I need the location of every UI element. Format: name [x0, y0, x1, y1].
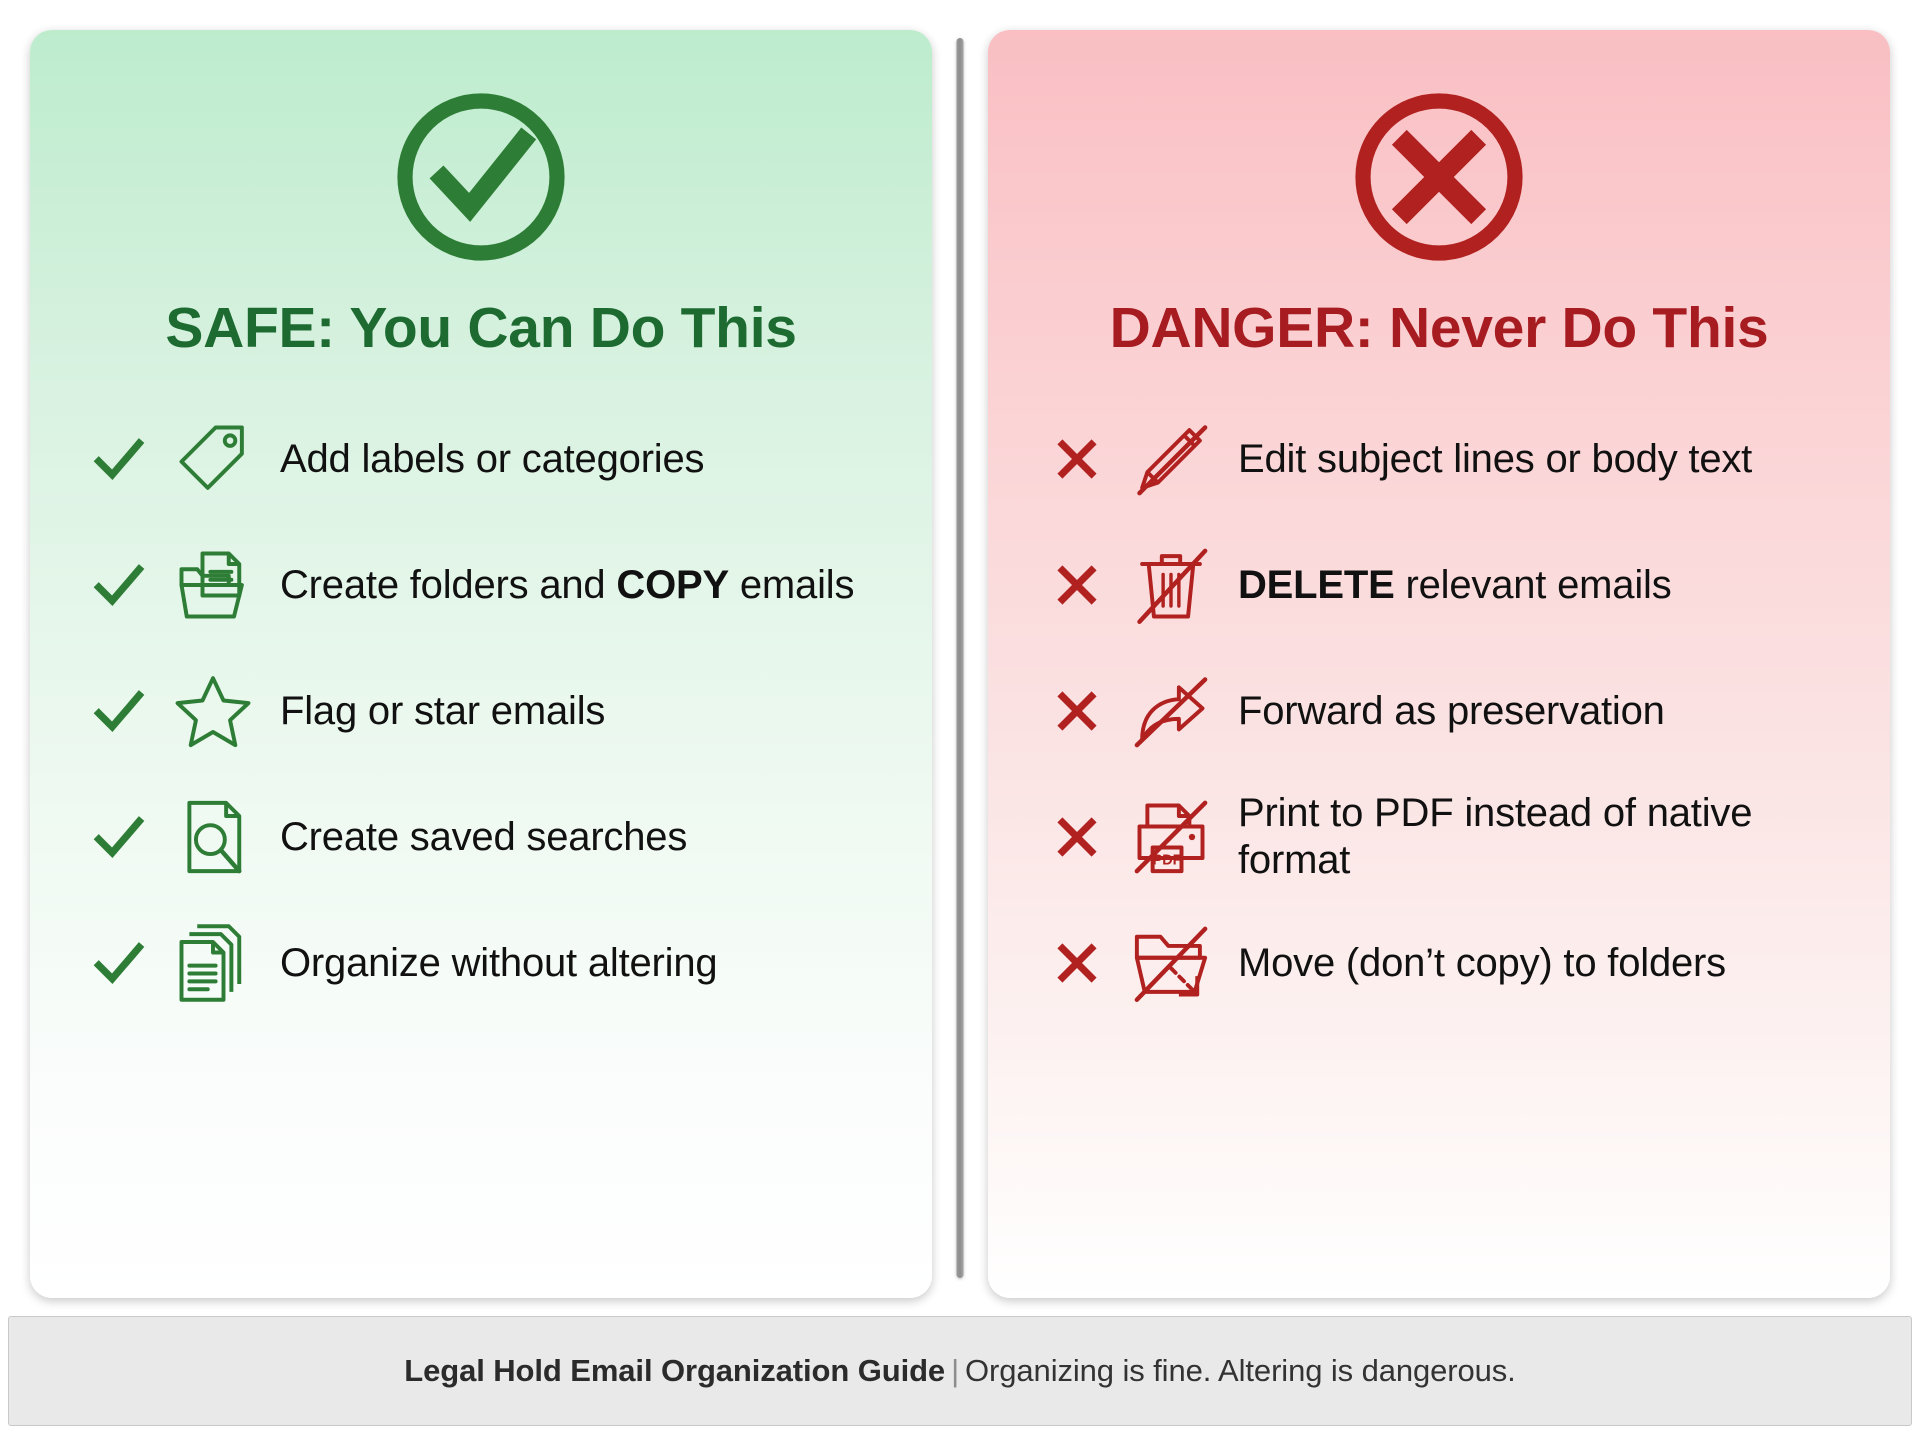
safe-panel: SAFE: You Can Do This — [30, 30, 932, 1298]
check-mark-icon — [92, 432, 146, 486]
check-mark-icon — [92, 810, 146, 864]
check-mark-icon — [92, 684, 146, 738]
pencil-slash-icon — [1128, 416, 1214, 502]
danger-panel-title: DANGER: Never Do This — [1110, 299, 1769, 359]
folder-move-slash-icon — [1128, 920, 1214, 1006]
danger-panel: DANGER: Never Do This — [988, 30, 1890, 1298]
list-item-label: Move (don’t copy) to folders — [1238, 940, 1726, 986]
x-mark-icon — [1050, 558, 1104, 612]
list-item-label: DELETE relevant emails — [1238, 562, 1672, 608]
list-item: Organize without altering — [92, 909, 896, 1017]
list-item-label: Create saved searches — [280, 814, 687, 860]
x-mark-icon — [1050, 684, 1104, 738]
footer-subtitle: Organizing is fine. Altering is dangerou… — [965, 1353, 1516, 1388]
star-icon — [170, 668, 256, 754]
danger-items-list: Edit subject lines or body text — [1014, 405, 1864, 1274]
trash-slash-icon — [1128, 542, 1214, 628]
folder-document-icon — [170, 542, 256, 628]
x-mark-icon — [1050, 810, 1104, 864]
list-item: Flag or star emails — [92, 657, 896, 765]
forward-slash-icon — [1128, 668, 1214, 754]
circle-x-icon — [1344, 82, 1534, 277]
x-mark-icon — [1050, 432, 1104, 486]
footer-separator: | — [945, 1353, 965, 1388]
list-item-label: Add labels or categories — [280, 436, 704, 482]
list-item: Move (don’t copy) to folders — [1050, 909, 1854, 1017]
list-item-label: Forward as preservation — [1238, 688, 1665, 734]
tag-icon — [170, 416, 256, 502]
footer-title: Legal Hold Email Organization Guide — [404, 1353, 945, 1388]
printer-pdf-slash-icon: PDF — [1128, 794, 1214, 880]
list-item: Create folders and COPY emails — [92, 531, 896, 639]
svg-text:PDF: PDF — [1153, 852, 1182, 868]
panel-divider — [957, 38, 964, 1278]
infographic-root: SAFE: You Can Do This — [0, 0, 1920, 1434]
list-item: Add labels or categories — [92, 405, 896, 513]
safe-panel-title: SAFE: You Can Do This — [165, 299, 796, 359]
panels-container: SAFE: You Can Do This — [0, 0, 1920, 1316]
circle-check-icon — [386, 82, 576, 277]
check-mark-icon — [92, 558, 146, 612]
x-mark-icon — [1050, 936, 1104, 990]
stacked-documents-icon — [170, 920, 256, 1006]
list-item-label: Create folders and COPY emails — [280, 562, 854, 608]
list-item: Forward as preservation — [1050, 657, 1854, 765]
list-item: PDF Print to PDF instead of native forma… — [1050, 783, 1854, 891]
safe-items-list: Add labels or categories — [56, 405, 906, 1274]
list-item-label: Organize without altering — [280, 940, 717, 986]
list-item-label: Flag or star emails — [280, 688, 605, 734]
check-mark-icon — [92, 936, 146, 990]
footer-bar: Legal Hold Email Organization Guide|Orga… — [8, 1316, 1912, 1426]
list-item-label: Edit subject lines or body text — [1238, 436, 1752, 482]
document-search-icon — [170, 794, 256, 880]
list-item: Edit subject lines or body text — [1050, 405, 1854, 513]
list-item-label: Print to PDF instead of native format — [1238, 790, 1854, 883]
list-item: DELETE relevant emails — [1050, 531, 1854, 639]
footer-text: Legal Hold Email Organization Guide|Orga… — [404, 1353, 1515, 1389]
list-item: Create saved searches — [92, 783, 896, 891]
